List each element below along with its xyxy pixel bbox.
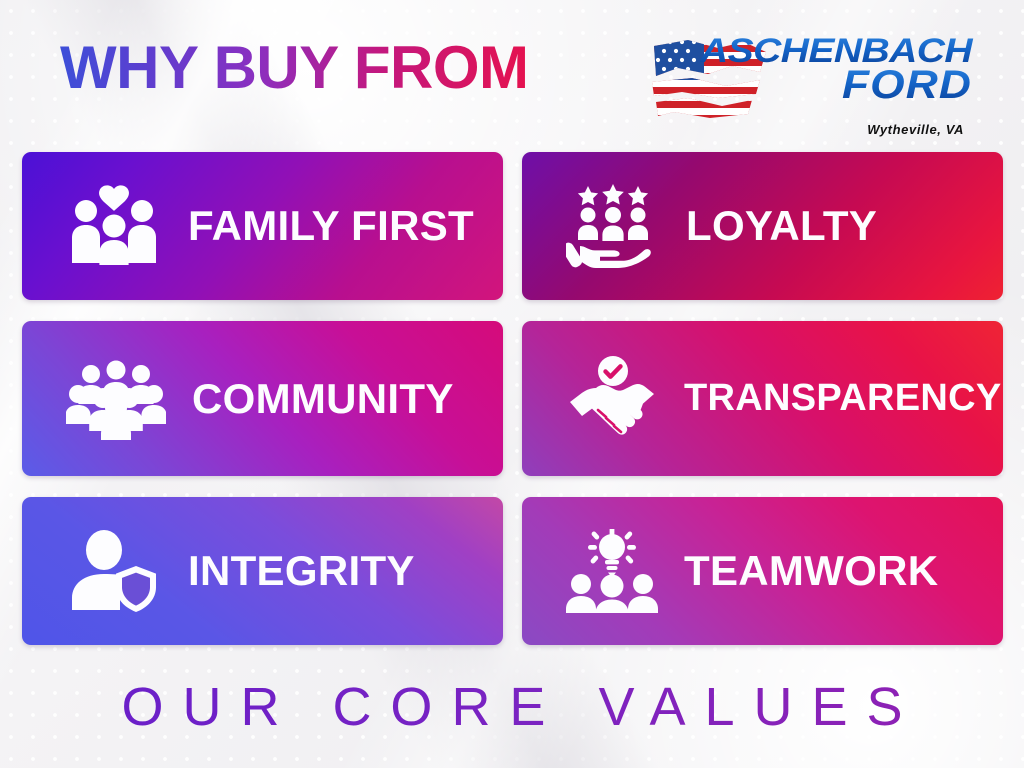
page-title: WHY BUY FROM [60,38,528,98]
value-card-loyalty[interactable]: LOYALTY [522,152,1003,300]
value-card-label: COMMUNITY [192,375,454,423]
logo-location: Wytheville, VA [867,122,964,137]
value-card-label: TRANSPARENCY [684,377,1001,420]
core-values-grid: FAMILY FIRST LOYALTY [22,152,1003,645]
logo-wordmark: ASCHENBACH FORD [700,32,980,104]
hand-stars-people-icon [566,184,660,268]
lightbulb-team-icon [566,529,658,613]
handshake-check-icon [566,356,658,442]
footer: OUR CORE VALUES [0,662,1024,752]
value-card-integrity[interactable]: INTEGRITY [22,497,503,645]
value-card-transparency[interactable]: TRANSPARENCY [522,321,1003,476]
person-shield-icon [66,528,162,614]
family-heart-icon [66,183,162,269]
value-card-family-first[interactable]: FAMILY FIRST [22,152,503,300]
footer-tagline: OUR CORE VALUES [102,676,921,738]
value-card-teamwork[interactable]: TEAMWORK [522,497,1003,645]
value-card-community[interactable]: COMMUNITY [22,321,503,476]
dealership-logo[interactable]: ASCHENBACH FORD Wytheville, VA [648,26,978,138]
poster-canvas: WHY BUY FROM [0,0,1024,768]
people-group-icon [66,358,166,440]
logo-brand-line2: FORD [842,63,972,104]
value-card-label: TEAMWORK [684,547,938,595]
value-card-label: INTEGRITY [188,547,415,595]
value-card-label: FAMILY FIRST [188,202,474,250]
header: WHY BUY FROM [0,0,1024,152]
value-card-label: LOYALTY [686,202,877,250]
